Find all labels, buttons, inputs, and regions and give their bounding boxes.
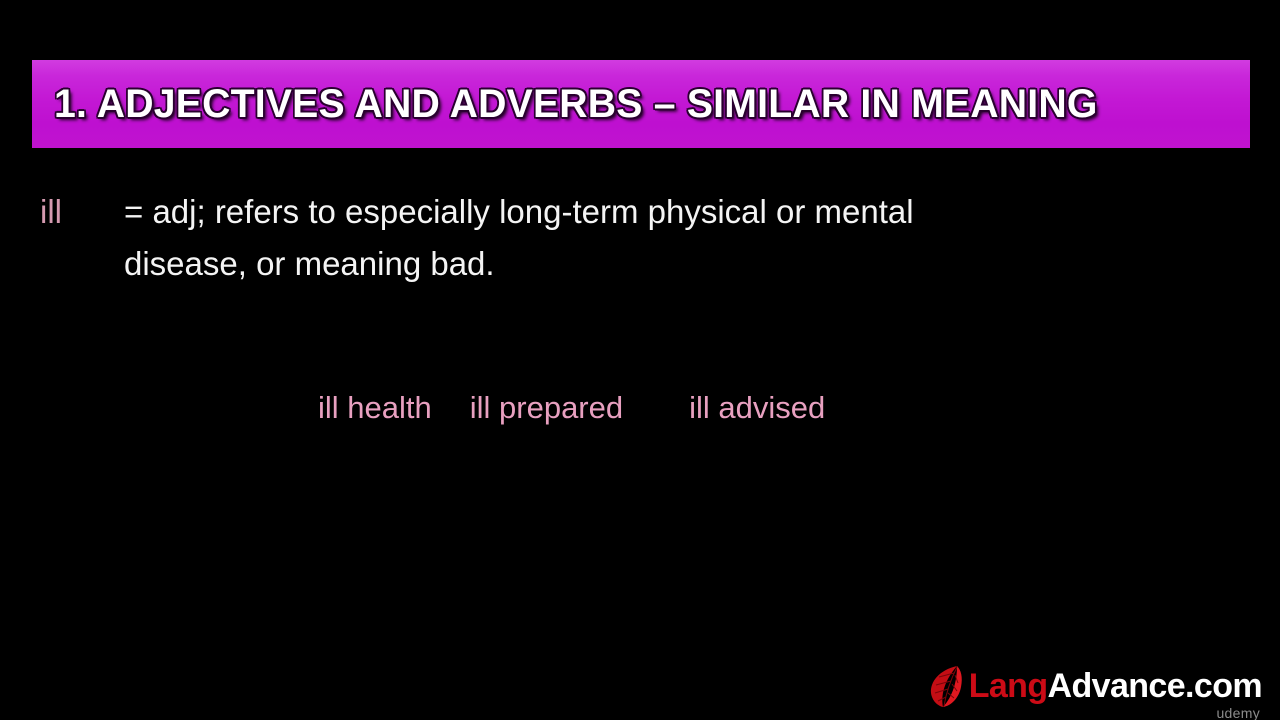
leaf-icon: [927, 663, 969, 709]
logo-platform-label: udemy: [1216, 705, 1260, 720]
logo-brand-first: Lang: [969, 667, 1048, 706]
logo-wordmark: Lang Advance.com udemy: [969, 667, 1262, 706]
definition-line-1: = adj; refers to especially long-term ph…: [124, 186, 1184, 238]
definition-text: = adj; refers to especially long-term ph…: [124, 186, 1184, 290]
definition-line-2: disease, or meaning bad.: [124, 238, 1184, 290]
headword-label: ill: [40, 186, 124, 238]
example-item-3: ill advised: [689, 390, 825, 426]
definition-block: ill = adj; refers to especially long-ter…: [40, 186, 1220, 290]
title-banner: 1. ADJECTIVES AND ADVERBS – SIMILAR IN M…: [32, 60, 1250, 148]
brand-logo: Lang Advance.com udemy: [927, 660, 1262, 712]
example-item-1: ill health: [318, 390, 432, 426]
examples-row: ill health ill prepared ill advised: [318, 390, 825, 426]
logo-brand-second: Advance.com: [1048, 667, 1262, 706]
slide-canvas: 1. ADJECTIVES AND ADVERBS – SIMILAR IN M…: [0, 0, 1280, 720]
example-item-2: ill prepared: [470, 390, 623, 426]
page-title: 1. ADJECTIVES AND ADVERBS – SIMILAR IN M…: [54, 82, 1098, 127]
